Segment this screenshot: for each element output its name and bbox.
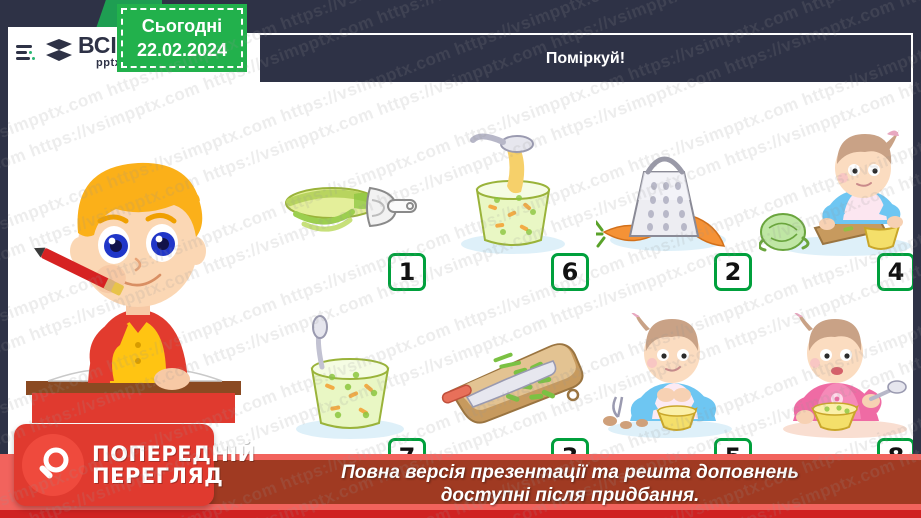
grater-carrot-icon <box>596 128 756 258</box>
girl-filling-bowl-icon <box>596 313 756 443</box>
promo-line-1: Повна версія презентації та решта доповн… <box>230 461 910 485</box>
today-label: Сьогодні <box>142 14 222 38</box>
item-number-badge: 4 <box>877 253 913 291</box>
mixing-salad-bowl-icon <box>270 313 430 443</box>
boy-illustration <box>26 93 241 423</box>
item-number-badge: 1 <box>388 253 426 291</box>
slide-title-bar: Поміркуй! <box>258 33 913 84</box>
peeling-cucumber-icon <box>270 128 430 258</box>
magnifier-icon <box>22 434 84 496</box>
graduation-cap-icon <box>44 37 74 65</box>
cutting-board-greens-icon <box>433 313 593 443</box>
girl-chopping-cabbage-icon <box>759 128 913 258</box>
speed-lines-icon <box>16 39 40 63</box>
page-title: Поміркуй! <box>546 50 625 68</box>
grid-item-1[interactable]: 1 <box>270 128 430 293</box>
grid-item-2[interactable]: 2 <box>596 128 756 293</box>
preview-label-line-2: ПЕРЕГЛЯД <box>92 465 256 487</box>
preview-button[interactable]: ПОПЕРЕДНІЙ ПЕРЕГЛЯД <box>14 424 214 506</box>
bottom-banner-dark-strip <box>0 510 921 518</box>
pouring-oil-icon <box>433 128 593 258</box>
promo-line-2: доступні після придбання. <box>230 484 910 508</box>
today-date: 22.02.2024 <box>137 38 227 62</box>
girl-tasting-salad-icon <box>759 313 913 443</box>
sequence-image-grid: 1 <box>270 128 913 488</box>
promo-message: Повна версія презентації та решта доповн… <box>230 461 910 509</box>
grid-item-4[interactable]: 4 <box>759 128 913 293</box>
grid-item-6[interactable]: 6 <box>433 128 593 293</box>
presentation-slide: 1 <box>0 0 921 518</box>
today-date-badge: Сьогодні 22.02.2024 <box>117 4 247 72</box>
item-number-badge: 2 <box>714 253 752 291</box>
item-number-badge: 6 <box>551 253 589 291</box>
preview-label-line-1: ПОПЕРЕДНІЙ <box>92 443 256 465</box>
